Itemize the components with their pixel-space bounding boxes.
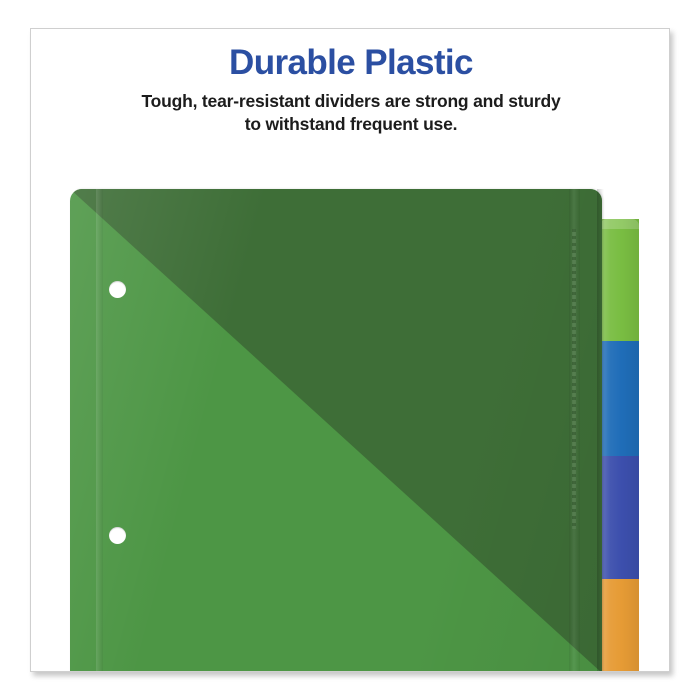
tab-indigo bbox=[600, 456, 639, 579]
divider-binding-perforation bbox=[572, 229, 576, 529]
divider-sheet bbox=[70, 189, 602, 672]
tab-lime bbox=[600, 219, 639, 341]
tab-blue-sheen bbox=[600, 341, 639, 456]
divider-left-crease bbox=[96, 189, 103, 672]
page-subtitle: Tough, tear-resistant dividers are stron… bbox=[71, 90, 631, 136]
punch-hole-bottom bbox=[109, 527, 126, 544]
product-image-canvas: Durable Plastic Tough, tear-resistant di… bbox=[0, 0, 700, 700]
headline-block: Durable Plastic Tough, tear-resistant di… bbox=[31, 45, 670, 136]
tab-blue bbox=[600, 341, 639, 456]
punch-hole-top bbox=[109, 281, 126, 298]
subtitle-line-1: Tough, tear-resistant dividers are stron… bbox=[141, 91, 560, 111]
tab-indigo-sheen bbox=[600, 456, 639, 579]
tab-orange bbox=[600, 579, 639, 672]
sheet-edge-shadow bbox=[597, 189, 604, 672]
image-frame: Durable Plastic Tough, tear-resistant di… bbox=[30, 28, 670, 672]
page-title: Durable Plastic bbox=[31, 45, 670, 82]
subtitle-line-2: to withstand frequent use. bbox=[245, 114, 458, 134]
tab-lime-sheen bbox=[600, 219, 639, 341]
tab-orange-sheen bbox=[600, 579, 639, 672]
